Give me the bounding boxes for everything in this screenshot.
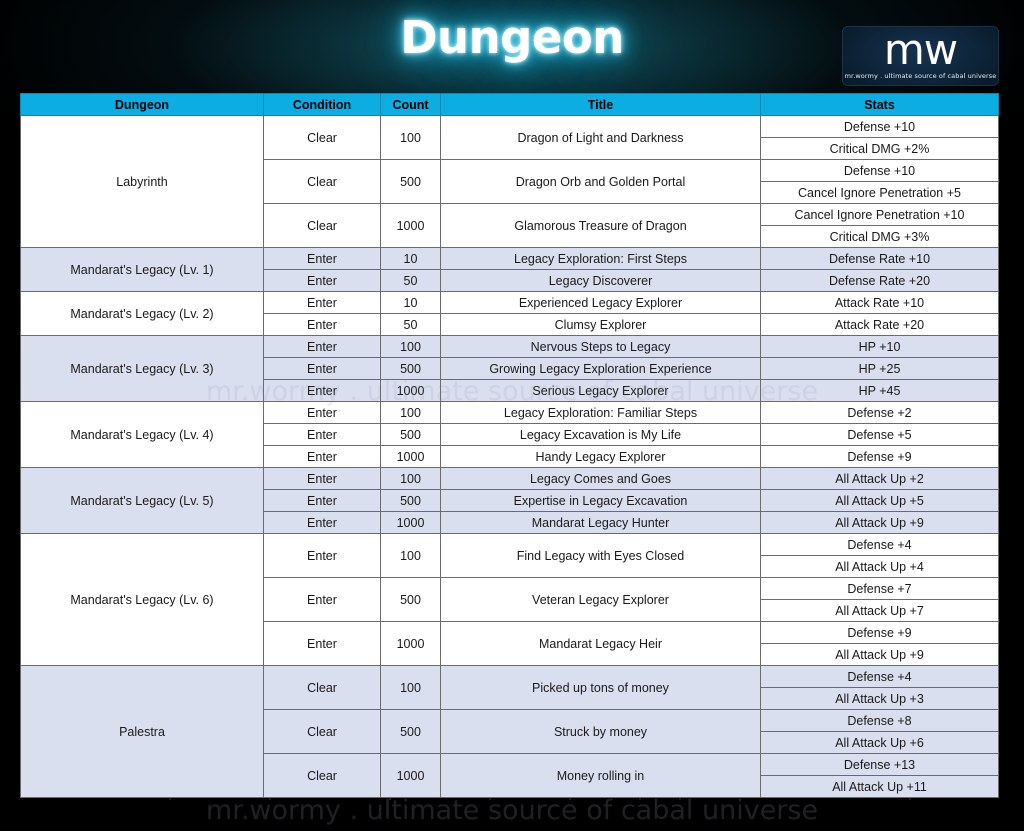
cell-count: 100 — [381, 116, 441, 160]
cell-title: Veteran Legacy Explorer — [441, 578, 761, 622]
table-row: Mandarat's Legacy (Lv. 1)Enter10Legacy E… — [21, 248, 999, 270]
cell-condition: Enter — [264, 578, 381, 622]
table-row: Mandarat's Legacy (Lv. 3)Enter100Nervous… — [21, 336, 999, 358]
cell-title: Legacy Exploration: Familiar Steps — [441, 402, 761, 424]
site-logo: mw mr.wormy . ultimate source of cabal u… — [843, 27, 998, 85]
cell-stat: All Attack Up +11 — [761, 776, 999, 798]
cell-stat: All Attack Up +5 — [761, 490, 999, 512]
cell-stat: Defense +9 — [761, 622, 999, 644]
cell-condition: Clear — [264, 116, 381, 160]
cell-stat: Cancel Ignore Penetration +5 — [761, 182, 999, 204]
table-row: Mandarat's Legacy (Lv. 5)Enter100Legacy … — [21, 468, 999, 490]
column-header-title: Title — [441, 94, 761, 116]
cell-dungeon: Mandarat's Legacy (Lv. 3) — [21, 336, 264, 402]
cell-condition: Enter — [264, 292, 381, 314]
cell-count: 100 — [381, 336, 441, 358]
cell-dungeon: Mandarat's Legacy (Lv. 2) — [21, 292, 264, 336]
cell-stat: All Attack Up +7 — [761, 600, 999, 622]
cell-count: 1000 — [381, 204, 441, 248]
cell-condition: Enter — [264, 380, 381, 402]
table-row: PalestraClear100Picked up tons of moneyD… — [21, 666, 999, 688]
cell-stat: Defense +7 — [761, 578, 999, 600]
cell-condition: Clear — [264, 160, 381, 204]
column-header-condition: Condition — [264, 94, 381, 116]
cell-count: 100 — [381, 402, 441, 424]
cell-count: 50 — [381, 314, 441, 336]
cell-stat: All Attack Up +4 — [761, 556, 999, 578]
cell-condition: Clear — [264, 710, 381, 754]
cell-title: Picked up tons of money — [441, 666, 761, 710]
cell-condition: Enter — [264, 402, 381, 424]
cell-stat: Critical DMG +3% — [761, 226, 999, 248]
cell-count: 50 — [381, 270, 441, 292]
cell-title: Legacy Comes and Goes — [441, 468, 761, 490]
cell-condition: Enter — [264, 248, 381, 270]
cell-condition: Enter — [264, 622, 381, 666]
cell-condition: Enter — [264, 424, 381, 446]
cell-title: Growing Legacy Exploration Experience — [441, 358, 761, 380]
cell-title: Glamorous Treasure of Dragon — [441, 204, 761, 248]
cell-title: Dragon of Light and Darkness — [441, 116, 761, 160]
cell-title: Find Legacy with Eyes Closed — [441, 534, 761, 578]
cell-count: 100 — [381, 666, 441, 710]
cell-condition: Enter — [264, 446, 381, 468]
cell-dungeon: Mandarat's Legacy (Lv. 4) — [21, 402, 264, 468]
cell-stat: All Attack Up +2 — [761, 468, 999, 490]
logo-tagline: mr.wormy . ultimate source of cabal univ… — [843, 72, 998, 80]
table-row: Mandarat's Legacy (Lv. 6)Enter100Find Le… — [21, 534, 999, 556]
cell-title: Handy Legacy Explorer — [441, 446, 761, 468]
cell-stat: All Attack Up +9 — [761, 512, 999, 534]
cell-stat: Attack Rate +10 — [761, 292, 999, 314]
table-header: Dungeon Condition Count Title Stats — [21, 94, 999, 116]
cell-stat: Defense +2 — [761, 402, 999, 424]
cell-count: 500 — [381, 710, 441, 754]
cell-count: 500 — [381, 358, 441, 380]
table-row: Mandarat's Legacy (Lv. 2)Enter10Experien… — [21, 292, 999, 314]
cell-title: Struck by money — [441, 710, 761, 754]
cell-count: 100 — [381, 534, 441, 578]
dungeon-table-container: Dungeon Condition Count Title Stats Laby… — [20, 93, 998, 798]
cell-condition: Enter — [264, 314, 381, 336]
cell-count: 1000 — [381, 446, 441, 468]
cell-stat: Defense +10 — [761, 160, 999, 182]
cell-count: 1000 — [381, 380, 441, 402]
cell-stat: Defense Rate +20 — [761, 270, 999, 292]
cell-dungeon: Mandarat's Legacy (Lv. 1) — [21, 248, 264, 292]
cell-title: Expertise in Legacy Excavation — [441, 490, 761, 512]
cell-stat: Cancel Ignore Penetration +10 — [761, 204, 999, 226]
table-row: Mandarat's Legacy (Lv. 4)Enter100Legacy … — [21, 402, 999, 424]
cell-count: 10 — [381, 248, 441, 270]
cell-title: Legacy Exploration: First Steps — [441, 248, 761, 270]
cell-stat: Critical DMG +2% — [761, 138, 999, 160]
cell-stat: All Attack Up +6 — [761, 732, 999, 754]
cell-title: Legacy Discoverer — [441, 270, 761, 292]
cell-stat: Defense +9 — [761, 446, 999, 468]
cell-stat: Defense +4 — [761, 534, 999, 556]
cell-title: Money rolling in — [441, 754, 761, 798]
cell-dungeon: Palestra — [21, 666, 264, 798]
table-body: LabyrinthClear100Dragon of Light and Dar… — [21, 116, 999, 798]
cell-title: Clumsy Explorer — [441, 314, 761, 336]
cell-title: Mandarat Legacy Hunter — [441, 512, 761, 534]
column-header-stats: Stats — [761, 94, 999, 116]
table-header-row: Dungeon Condition Count Title Stats — [21, 94, 999, 116]
cell-dungeon: Labyrinth — [21, 116, 264, 248]
cell-condition: Enter — [264, 336, 381, 358]
cell-count: 1000 — [381, 512, 441, 534]
cell-condition: Clear — [264, 754, 381, 798]
cell-condition: Enter — [264, 468, 381, 490]
cell-condition: Enter — [264, 270, 381, 292]
cell-stat: All Attack Up +3 — [761, 688, 999, 710]
cell-condition: Enter — [264, 512, 381, 534]
column-header-count: Count — [381, 94, 441, 116]
cell-title: Nervous Steps to Legacy — [441, 336, 761, 358]
cell-stat: Defense +10 — [761, 116, 999, 138]
cell-stat: Defense +13 — [761, 754, 999, 776]
table-row: LabyrinthClear100Dragon of Light and Dar… — [21, 116, 999, 138]
cell-title: Dragon Orb and Golden Portal — [441, 160, 761, 204]
cell-count: 500 — [381, 490, 441, 512]
cell-stat: All Attack Up +9 — [761, 644, 999, 666]
cell-stat: HP +25 — [761, 358, 999, 380]
cell-stat: HP +45 — [761, 380, 999, 402]
cell-title: Mandarat Legacy Heir — [441, 622, 761, 666]
cell-count: 1000 — [381, 754, 441, 798]
cell-count: 100 — [381, 468, 441, 490]
cell-count: 500 — [381, 424, 441, 446]
cell-title: Experienced Legacy Explorer — [441, 292, 761, 314]
cell-title: Legacy Excavation is My Life — [441, 424, 761, 446]
cell-stat: Defense +8 — [761, 710, 999, 732]
cell-stat: Attack Rate +20 — [761, 314, 999, 336]
cell-count: 10 — [381, 292, 441, 314]
cell-stat: Defense Rate +10 — [761, 248, 999, 270]
cell-stat: Defense +5 — [761, 424, 999, 446]
cell-title: Serious Legacy Explorer — [441, 380, 761, 402]
cell-dungeon: Mandarat's Legacy (Lv. 6) — [21, 534, 264, 666]
cell-stat: HP +10 — [761, 336, 999, 358]
cell-count: 500 — [381, 160, 441, 204]
cell-count: 500 — [381, 578, 441, 622]
watermark-bottom: mr.wormy . ultimate source of cabal univ… — [0, 795, 1024, 826]
dungeon-titles-table: Dungeon Condition Count Title Stats Laby… — [20, 93, 999, 798]
page-root: Dungeon mw mr.wormy . ultimate source of… — [0, 0, 1024, 831]
cell-condition: Clear — [264, 204, 381, 248]
cell-count: 1000 — [381, 622, 441, 666]
logo-wordmark: mw — [843, 28, 998, 72]
cell-condition: Enter — [264, 358, 381, 380]
cell-dungeon: Mandarat's Legacy (Lv. 5) — [21, 468, 264, 534]
column-header-dungeon: Dungeon — [21, 94, 264, 116]
cell-condition: Enter — [264, 490, 381, 512]
cell-condition: Enter — [264, 534, 381, 578]
cell-stat: Defense +4 — [761, 666, 999, 688]
cell-condition: Clear — [264, 666, 381, 710]
page-header: Dungeon mw mr.wormy . ultimate source of… — [0, 0, 1024, 93]
